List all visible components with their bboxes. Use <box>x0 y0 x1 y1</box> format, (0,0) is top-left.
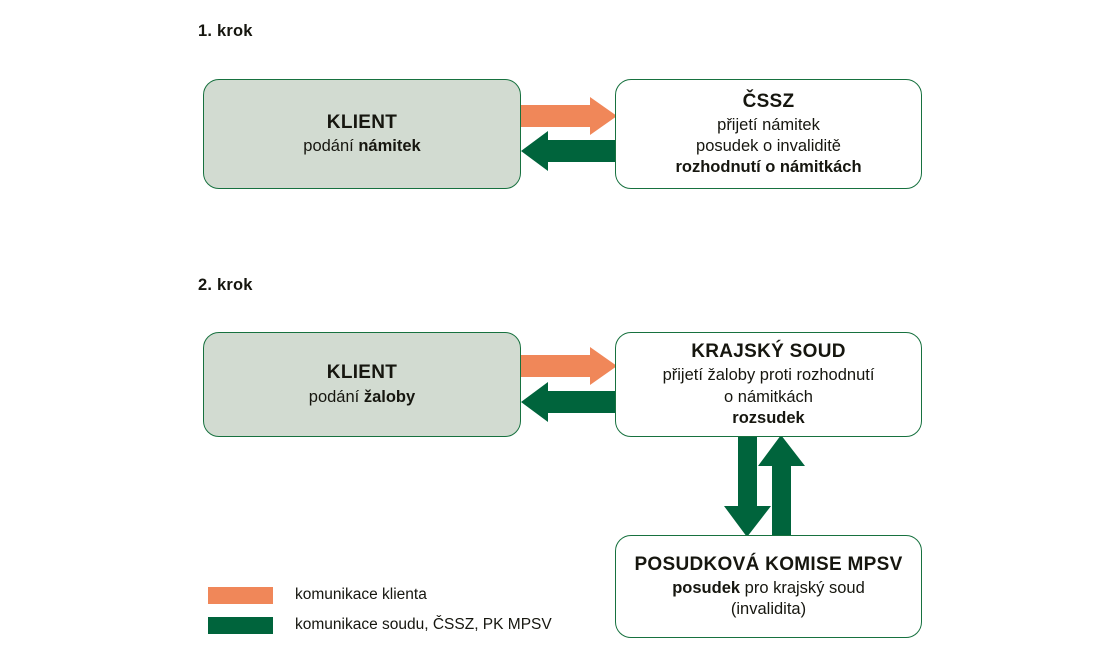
legend-swatch-green <box>208 617 273 634</box>
arrow-pk-to-soud <box>758 435 805 535</box>
node-line: přijetí námitek <box>717 115 820 136</box>
step-2-label: 2. krok <box>198 276 253 295</box>
node-line: rozhodnutí o námitkách <box>675 157 861 178</box>
node-title: KLIENT <box>327 361 397 385</box>
node-line-bold: posudek <box>672 579 740 597</box>
node-klient-step2[interactable]: KLIENT podání žaloby <box>203 332 521 437</box>
step-1-label: 1. krok <box>198 22 253 41</box>
arrow-soud-to-klient <box>521 382 617 422</box>
node-posudkova-komise-mpsv[interactable]: POSUDKOVÁ KOMISE MPSV posudek pro krajsk… <box>615 535 922 638</box>
node-line: přijetí žaloby proti rozhodnutí <box>663 365 875 386</box>
node-line-bold: žaloby <box>364 388 415 406</box>
node-line-text: podání <box>309 388 364 406</box>
node-line: podání námitek <box>303 136 420 157</box>
node-line: (invalidita) <box>731 599 806 620</box>
arrow-klient-to-soud <box>521 347 617 385</box>
arrow-soud-to-pk <box>724 437 771 537</box>
node-krajsky-soud[interactable]: KRAJSKÝ SOUD přijetí žaloby proti rozhod… <box>615 332 922 437</box>
legend-swatch-orange <box>208 587 273 604</box>
node-line: posudek o invaliditě <box>696 136 841 157</box>
node-line-bold: námitek <box>358 137 420 155</box>
node-line-text: podání <box>303 137 358 155</box>
node-title: KRAJSKÝ SOUD <box>691 340 846 364</box>
legend-label: komunikace soudu, ČSSZ, PK MPSV <box>295 616 552 634</box>
node-klient-step1[interactable]: KLIENT podání námitek <box>203 79 521 189</box>
node-cssz[interactable]: ČSSZ přijetí námitek posudek o invalidit… <box>615 79 922 189</box>
diagram-canvas: 1. krok 2. krok KLIENT podání námitek ČS… <box>0 0 1107 670</box>
node-line: rozsudek <box>732 408 804 429</box>
legend: komunikace klienta komunikace soudu, ČSS… <box>208 580 552 640</box>
node-title: POSUDKOVÁ KOMISE MPSV <box>634 553 902 577</box>
node-line-text: pro krajský soud <box>740 579 865 597</box>
arrow-layer <box>0 0 1107 670</box>
arrow-klient-to-cssz <box>521 97 617 135</box>
node-line: o námitkách <box>724 387 813 408</box>
node-title: ČSSZ <box>743 90 795 114</box>
node-line: posudek pro krajský soud <box>672 578 865 599</box>
node-line: podání žaloby <box>309 387 415 408</box>
arrow-cssz-to-klient <box>521 131 617 171</box>
legend-item-soud: komunikace soudu, ČSSZ, PK MPSV <box>208 610 552 640</box>
legend-label: komunikace klienta <box>295 586 427 604</box>
legend-item-klient: komunikace klienta <box>208 580 552 610</box>
node-title: KLIENT <box>327 111 397 135</box>
